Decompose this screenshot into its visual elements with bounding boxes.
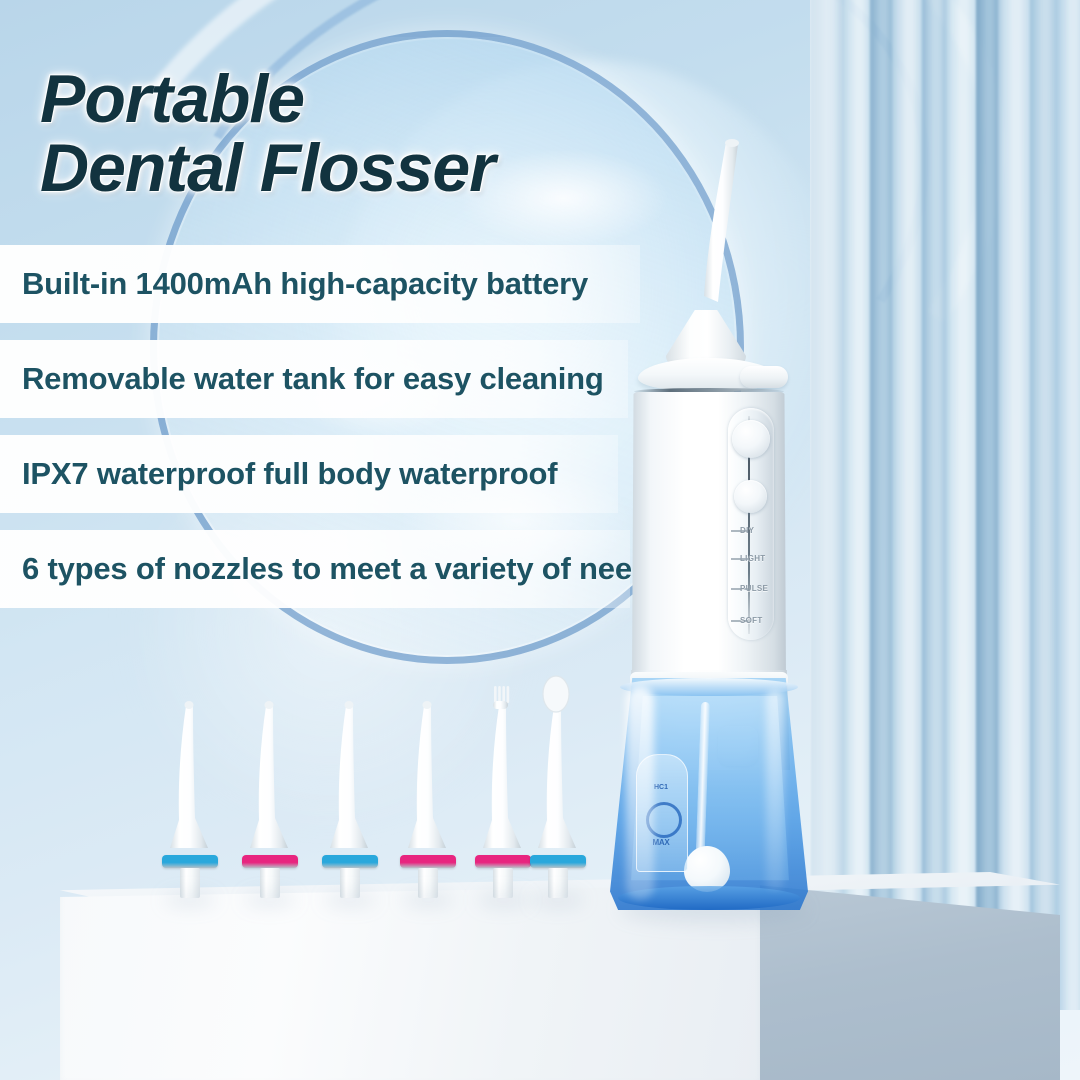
nozzle-shadow	[164, 894, 216, 906]
water-flosser-device: DIY LIGHT PULSE SOFT HC1 MAX	[600, 130, 830, 910]
curtain-drape	[976, 0, 1002, 1010]
nozzle-shaft-icon	[160, 640, 220, 850]
nozzle-shadow	[244, 894, 296, 906]
nozzle-1[interactable]	[160, 688, 220, 898]
page-title: Portable Dental Flosser	[40, 66, 495, 201]
curtain-drape	[1030, 0, 1060, 1010]
nozzle-shaft-icon	[528, 622, 588, 850]
mode-button[interactable]	[732, 420, 770, 458]
nozzle-6[interactable]	[528, 670, 588, 898]
feature-text: Removable water tank for easy cleaning	[0, 361, 604, 397]
mode-label: SOFT	[740, 616, 763, 625]
nozzle-color-ring	[162, 855, 218, 868]
curtain-drape	[998, 0, 1034, 1010]
feature-band: Removable water tank for easy cleaning	[0, 340, 628, 418]
nozzle-shadow	[477, 894, 529, 906]
curtain-drape	[844, 0, 874, 1010]
nozzle-4[interactable]	[398, 692, 458, 898]
nozzle-shadow	[532, 894, 584, 906]
nozzle-shaft-icon	[240, 652, 300, 850]
title-line-1: Portable	[40, 66, 495, 133]
nozzle-shadow	[402, 894, 454, 906]
nozzle-color-ring	[400, 855, 456, 868]
nozzle-2[interactable]	[240, 700, 300, 898]
feature-text: IPX7 waterproof full body waterproof	[0, 456, 557, 492]
curtain-drape	[892, 0, 926, 1010]
feature-text: Built-in 1400mAh high-capacity battery	[0, 266, 588, 302]
feature-band: Built-in 1400mAh high-capacity battery	[0, 245, 640, 323]
feature-text: 6 types of nozzles to meet a variety of …	[0, 551, 668, 587]
tank-highlight-right	[766, 690, 784, 890]
nozzle-3[interactable]	[320, 684, 380, 898]
mode-label: PULSE	[740, 584, 768, 593]
curtain-drape	[1056, 0, 1080, 1010]
nozzle-color-ring	[530, 855, 586, 868]
product-banner: Portable Dental Flosser Built-in 1400mAh…	[0, 0, 1080, 1080]
mode-label: DIY	[740, 526, 754, 535]
curtain-drape	[922, 0, 950, 1010]
mode-label: LIGHT	[740, 554, 766, 563]
feature-band: 6 types of nozzles to meet a variety of …	[0, 530, 630, 608]
nozzle-color-ring	[322, 855, 378, 868]
nozzle-color-ring	[475, 855, 531, 868]
nozzle-shaft-icon	[320, 636, 380, 850]
curtain-drape	[870, 0, 896, 1010]
nozzle-shaft-icon	[473, 654, 533, 850]
curtain-backdrop	[810, 0, 1080, 1010]
feature-band: IPX7 waterproof full body waterproof	[0, 435, 618, 513]
tank-highlight-left	[626, 686, 654, 900]
nozzle-5[interactable]	[473, 702, 533, 898]
nozzle-color-ring	[242, 855, 298, 868]
nozzle-eject-button[interactable]	[740, 366, 788, 388]
nozzle-shadow	[324, 894, 376, 906]
curtain-drape	[946, 0, 980, 1010]
title-line-2: Dental Flosser	[40, 135, 495, 202]
nozzle-shaft-icon	[398, 644, 458, 850]
power-button[interactable]	[734, 480, 767, 513]
